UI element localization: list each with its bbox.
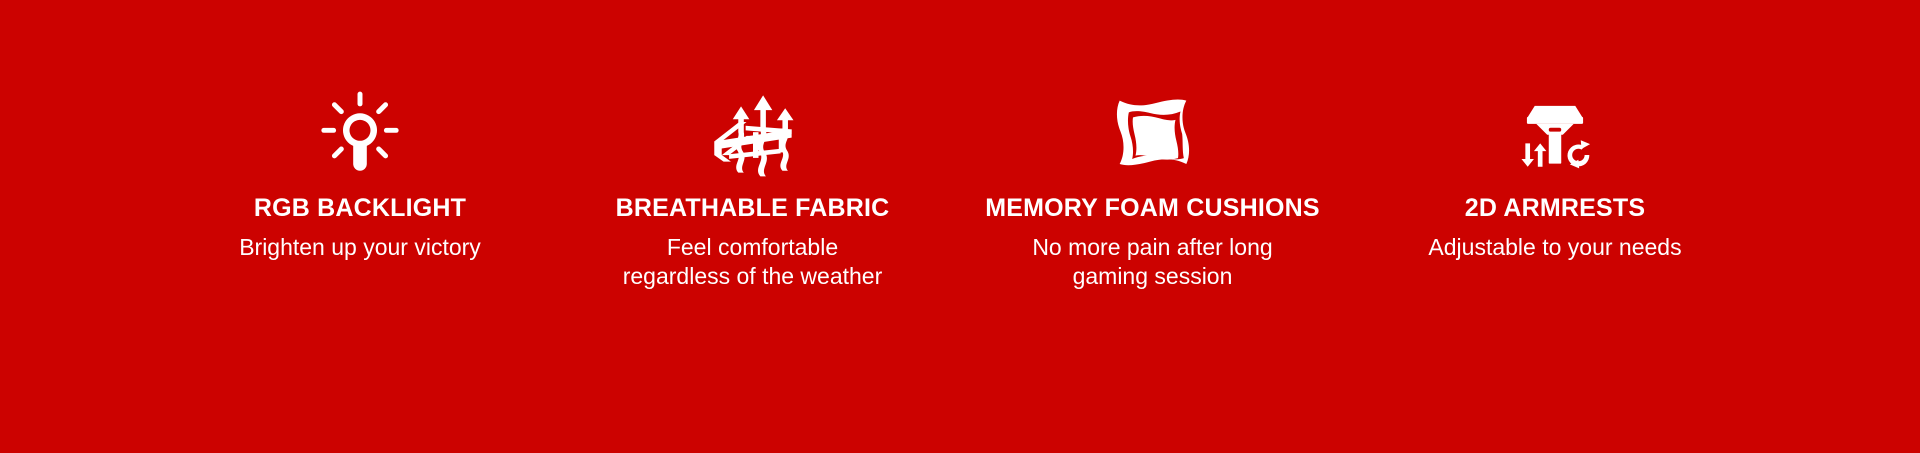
cushion-pillow-icon <box>1103 88 1203 180</box>
feature-title: 2D ARMRESTS <box>1465 194 1645 224</box>
feature-highlights-strip: RGB BACKLIGHT Brighten up your victory <box>0 0 1920 453</box>
feature-description-line: gaming session <box>1032 262 1272 292</box>
feature-item-memory-foam-cushions: MEMORY FOAM CUSHIONS No more pain after … <box>950 88 1355 292</box>
feature-description: Feel comfortable regardless of the weath… <box>623 233 883 293</box>
feature-description: No more pain after long gaming session <box>1032 233 1272 293</box>
feature-title: BREATHABLE FABRIC <box>616 194 890 224</box>
feature-description-line: No more pain after long <box>1032 233 1272 263</box>
feature-description-line: Feel comfortable <box>623 233 883 263</box>
feature-item-rgb-backlight: RGB BACKLIGHT Brighten up your victory <box>165 88 555 262</box>
feature-title: MEMORY FOAM CUSHIONS <box>985 194 1320 224</box>
feature-description: Brighten up your victory <box>239 233 481 263</box>
feature-description-line: Brighten up your victory <box>239 233 481 263</box>
breathable-mesh-airflow-icon <box>701 88 805 180</box>
feature-description-line: Adjustable to your needs <box>1428 233 1681 263</box>
feature-title: RGB BACKLIGHT <box>254 194 466 224</box>
feature-item-2d-armrests: 2D ARMRESTS Adjustable to your needs <box>1355 88 1755 262</box>
feature-description-line: regardless of the weather <box>623 262 883 292</box>
feature-description: Adjustable to your needs <box>1428 233 1681 263</box>
feature-item-breathable-fabric: BREATHABLE FABRIC Feel comfortable regar… <box>555 88 950 292</box>
armrest-adjust-icon <box>1507 88 1603 180</box>
lightbulb-icon <box>314 88 406 180</box>
